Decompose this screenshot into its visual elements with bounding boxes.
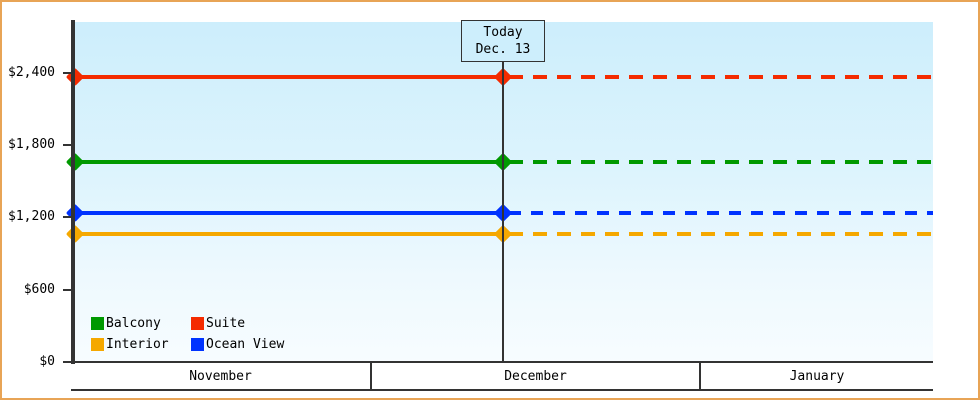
- y-tick-label-600: $600: [24, 283, 55, 296]
- month-cell-january: January: [701, 363, 933, 389]
- legend-label-ocean-view: Ocean View: [206, 338, 284, 351]
- legend-item-interior[interactable]: Interior: [91, 338, 191, 351]
- y-tick-label-1200: $1,200: [8, 210, 55, 223]
- series-marker-suite-start: [66, 68, 84, 86]
- price-trend-chart: Today Dec. 13 $2,400 $1,800 $1,200 $600 …: [0, 0, 980, 400]
- month-cell-november: November: [71, 363, 372, 389]
- y-tick-1800: [63, 144, 72, 146]
- series-line-suite-solid: [75, 75, 503, 79]
- month-cell-december: December: [372, 363, 701, 389]
- series-line-ocean-view-solid: [75, 211, 503, 215]
- chart-legend: Balcony Suite Interior Ocean View: [91, 313, 284, 355]
- legend-swatch-suite: [191, 317, 204, 330]
- today-label: Today: [483, 24, 522, 41]
- series-line-suite-dashed: [509, 75, 933, 79]
- series-line-interior-dashed: [509, 232, 933, 236]
- plot-area: [75, 22, 933, 362]
- today-date: Dec. 13: [476, 41, 531, 58]
- today-vertical-line: [502, 22, 504, 362]
- series-marker-ocean-view-start: [66, 204, 84, 222]
- legend-swatch-ocean-view: [191, 338, 204, 351]
- legend-swatch-interior: [91, 338, 104, 351]
- today-callout-box: Today Dec. 13: [461, 20, 545, 62]
- legend-swatch-balcony: [91, 317, 104, 330]
- legend-label-suite: Suite: [206, 317, 245, 330]
- legend-item-suite[interactable]: Suite: [191, 317, 284, 330]
- y-tick-label-2400: $2,400: [8, 66, 55, 79]
- series-marker-interior-start: [66, 225, 84, 243]
- y-tick-1200: [63, 216, 72, 218]
- series-line-balcony-dashed: [509, 160, 933, 164]
- series-marker-balcony-start: [66, 153, 84, 171]
- y-tick-label-0: $0: [39, 355, 55, 368]
- legend-item-balcony[interactable]: Balcony: [91, 317, 191, 330]
- y-tick-2400: [63, 72, 72, 74]
- series-line-balcony-solid: [75, 160, 503, 164]
- series-line-interior-solid: [75, 232, 503, 236]
- y-tick-600: [63, 289, 72, 291]
- series-line-ocean-view-dashed: [509, 211, 933, 215]
- month-axis: November December January: [71, 363, 933, 391]
- y-tick-label-1800: $1,800: [8, 138, 55, 151]
- legend-item-ocean-view[interactable]: Ocean View: [191, 338, 284, 351]
- legend-label-interior: Interior: [106, 338, 169, 351]
- legend-label-balcony: Balcony: [106, 317, 161, 330]
